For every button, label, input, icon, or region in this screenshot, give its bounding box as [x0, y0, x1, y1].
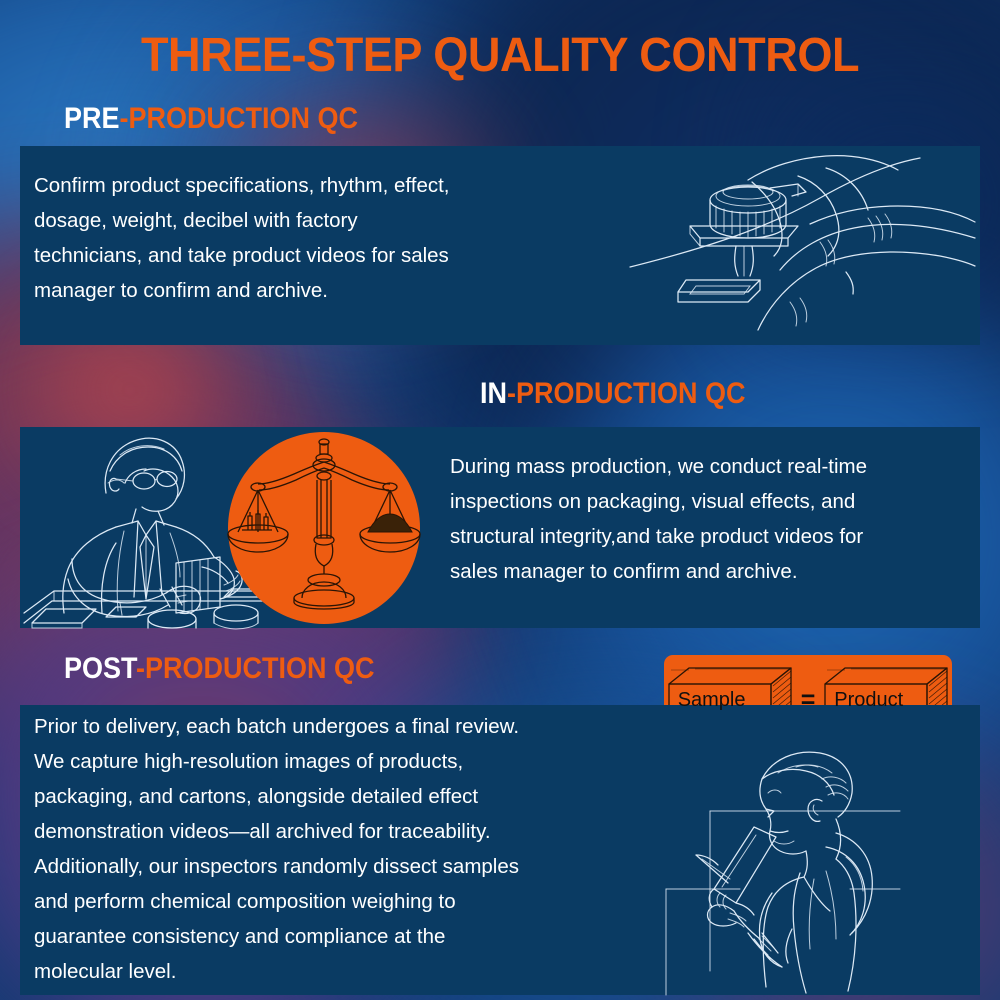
- section-heading-in-production-orange: -PRODUCTION QC: [507, 377, 746, 410]
- section-heading-post-production: POST-PRODUCTION QC: [64, 654, 375, 684]
- section-heading-pre-production-orange: -PRODUCTION QC: [120, 102, 358, 135]
- sample-box-label: Sample: [678, 690, 746, 710]
- hand-holding-product-sketch: [630, 152, 975, 342]
- panel-pre-production: Confirm product specifications, rhythm, …: [20, 146, 980, 345]
- panel-in-production: During mass production, we conduct real-…: [20, 427, 980, 628]
- section-heading-post-production-orange: -PRODUCTION QC: [136, 652, 374, 685]
- section-heading-in-production: IN-PRODUCTION QC: [480, 379, 746, 409]
- page-title: THREE-STEP QUALITY CONTROL: [30, 32, 970, 80]
- inspector-with-tablet-sketch: [650, 743, 980, 995]
- equals-sign: =: [799, 688, 818, 713]
- section-heading-pre-production-white: PRE: [64, 102, 120, 135]
- panel-pre-production-body: Confirm product specifications, rhythm, …: [34, 168, 450, 308]
- section-heading-in-production-white: IN: [480, 377, 507, 410]
- product-box-label: Product: [834, 690, 903, 710]
- balance-scale-icon: [228, 432, 420, 624]
- panel-post-production: Prior to delivery, each batch undergoes …: [20, 705, 980, 995]
- section-heading-post-production-white: POST: [64, 652, 136, 685]
- section-heading-pre-production: PRE-PRODUCTION QC: [64, 104, 358, 134]
- panel-in-production-body: During mass production, we conduct real-…: [450, 449, 867, 589]
- panel-post-production-body: Prior to delivery, each batch undergoes …: [34, 709, 519, 989]
